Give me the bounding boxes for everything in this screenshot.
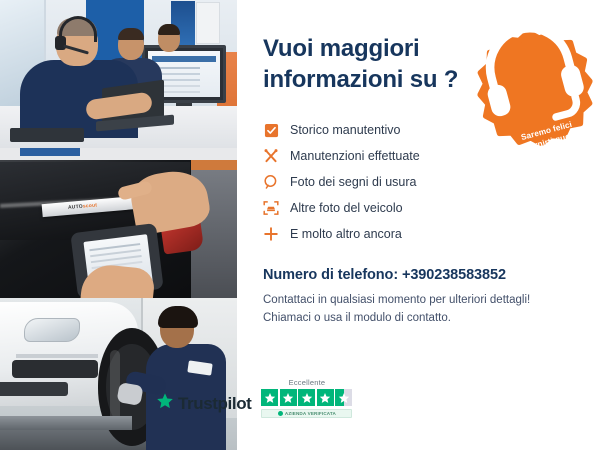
- contact-line-2: Chiamaci o usa il modulo di contatto.: [263, 310, 582, 328]
- car-headlight: [24, 318, 80, 342]
- keyboard: [10, 128, 84, 142]
- trustpilot-rating: Eccellente AZIEND: [261, 378, 352, 418]
- trustpilot-logo[interactable]: Trustpilot: [156, 392, 251, 418]
- rating-stars: [261, 389, 352, 406]
- page-title: Vuoi maggiori informazioni su ?: [263, 34, 463, 95]
- feature-label: E molto altro ancora: [290, 227, 402, 241]
- feature-label: Storico manutentivo: [290, 123, 400, 137]
- trustpilot-wordmark: Trustpilot: [178, 394, 251, 414]
- verified-label: AZIENDA VERIFICATA: [285, 411, 336, 416]
- star-3: [298, 389, 315, 406]
- agent-2-hair: [118, 28, 144, 40]
- agent-3-hair: [158, 24, 180, 35]
- bumper-chrome-trim: [16, 354, 98, 358]
- mechanic-hair: [158, 306, 198, 328]
- feature-label: Manutenzioni effettuate: [290, 149, 420, 163]
- feature-item-altre-foto: Altre foto del veicolo: [263, 195, 582, 221]
- feature-item-altro: E molto altro ancora: [263, 221, 582, 247]
- info-on-request-badge: Saremo felici di fornirti queste informa…: [470, 23, 599, 152]
- ceiling-strip: [0, 148, 237, 160]
- car-grille-upper: [12, 360, 98, 378]
- car-grille-lower: [0, 382, 68, 396]
- star-5-half: [335, 389, 352, 406]
- ruler-branding: AUTOscout: [68, 202, 98, 211]
- ceiling-sign: [20, 148, 80, 156]
- plus-icon: [263, 226, 279, 242]
- magnifier-icon: [263, 174, 279, 190]
- verified-badge: AZIENDA VERIFICATA: [261, 409, 352, 418]
- star-1: [261, 389, 278, 406]
- trustpilot-star-icon: [156, 392, 174, 415]
- verified-check-icon: [278, 411, 283, 416]
- call-center-photo: [0, 0, 237, 148]
- rating-label: Eccellente: [261, 378, 352, 387]
- crossed-tools-icon: [263, 148, 279, 164]
- wall-poster-secondary: [196, 2, 220, 44]
- tire-check-photo: [0, 298, 237, 450]
- vehicle-inspection-photo: AUTOscout: [0, 148, 237, 298]
- checkbox-checked-icon: [263, 122, 279, 138]
- star-2: [280, 389, 297, 406]
- promo-card: AUTOscout: [0, 0, 600, 450]
- phone-number[interactable]: Numero di telefono: +390238583852: [263, 267, 582, 283]
- vehicle-lift-arm: [0, 416, 132, 430]
- contact-description: Contattaci in qualsiasi momento per ulte…: [263, 292, 582, 328]
- star-4: [317, 389, 334, 406]
- contact-line-1: Contattaci in qualsiasi momento per ulte…: [263, 292, 582, 310]
- mechanic-glove: [116, 382, 143, 406]
- photo-frame-car-icon: [263, 200, 279, 216]
- feature-label: Altre foto del veicolo: [290, 201, 403, 215]
- trustpilot-widget[interactable]: Trustpilot Eccellente: [156, 378, 352, 418]
- feature-label: Foto dei segni di usura: [290, 175, 416, 189]
